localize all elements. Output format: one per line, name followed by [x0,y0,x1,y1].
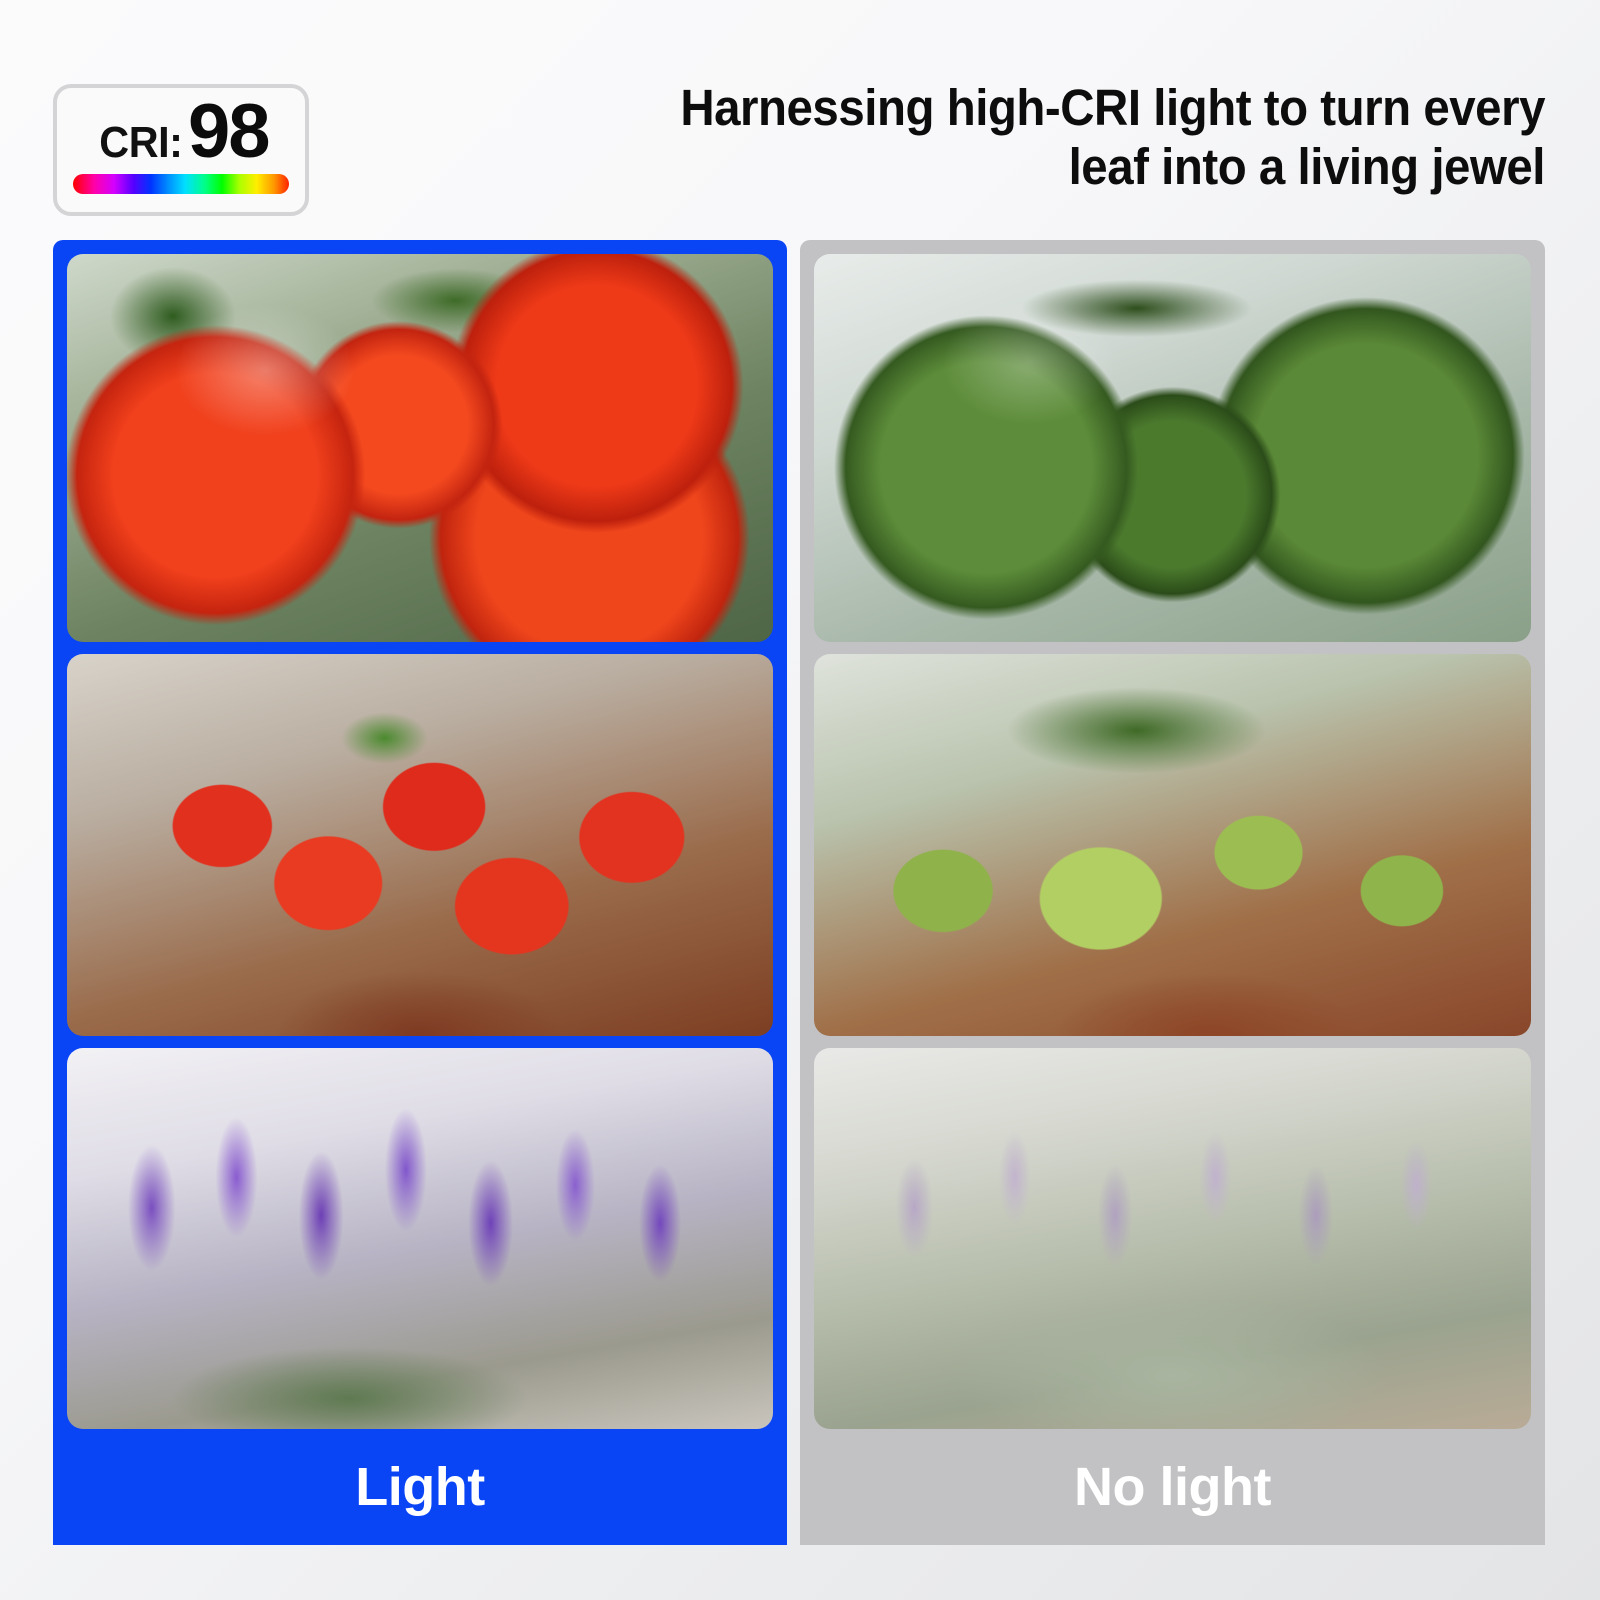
page-title: Harnessing high-CRI light to turn every … [465,78,1545,196]
cri-label: CRI: [99,118,182,168]
cri-spectrum-bar-icon [73,174,289,194]
caption-no-light: No light [800,1429,1545,1545]
photo-tomatoes-unlit [814,254,1531,642]
photo-tomatoes-lit [67,254,773,642]
caption-light: Light [53,1429,787,1545]
panel-light: Light [53,240,787,1545]
page-title-line-1: Harnessing high-CRI light to turn every [541,78,1545,137]
photo-tomatoes-lit-image [67,254,773,642]
photo-strawberries-unlit [814,654,1531,1036]
cri-badge: CRI: 98 [53,84,309,216]
photo-lavender-unlit [814,1048,1531,1429]
photo-lavender-lit [67,1048,773,1429]
header: CRI: 98 Harnessing high-CRI light to tur… [0,0,1600,240]
photo-lavender-unlit-image [814,1048,1531,1429]
cri-badge-row: CRI: 98 [57,94,305,176]
cri-value: 98 [188,94,269,170]
panel-no-light: No light [800,240,1545,1545]
photo-strawberries-lit-image [67,654,773,1036]
infographic-root: CRI: 98 Harnessing high-CRI light to tur… [0,0,1600,1600]
photo-tomatoes-unlit-image [814,254,1531,642]
page-title-line-2: leaf into a living jewel [541,137,1545,196]
photo-strawberries-unlit-image [814,654,1531,1036]
photo-lavender-lit-image [67,1048,773,1429]
photo-strawberries-lit [67,654,773,1036]
